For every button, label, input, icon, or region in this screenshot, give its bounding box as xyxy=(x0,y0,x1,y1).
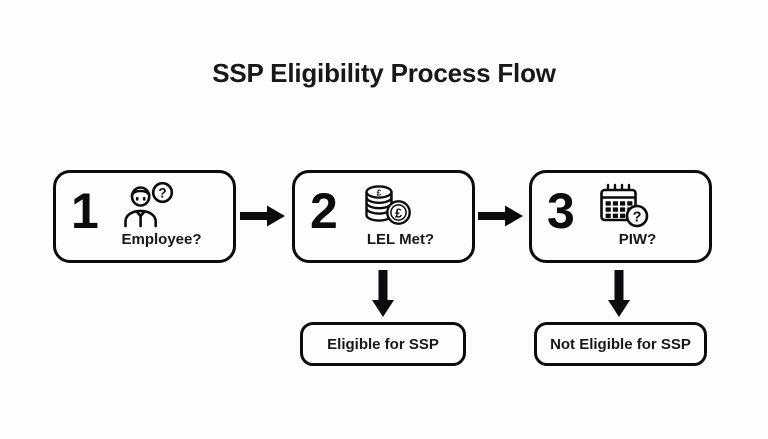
step-box-employee[interactable]: 1 ? xyxy=(53,170,236,263)
step-number: 3 xyxy=(547,186,575,236)
person-question-icon: ? xyxy=(118,181,178,231)
outcome-box-eligible[interactable]: Eligible for SSP xyxy=(300,322,466,366)
step-number: 2 xyxy=(310,186,338,236)
coin-stack-pound-icon: £ £ xyxy=(357,181,417,231)
step-box-lel[interactable]: 2 £ £ LEL Met? xyxy=(292,170,475,263)
arrow-step2-to-step3 xyxy=(478,203,524,229)
step-number: 1 xyxy=(71,186,99,236)
diagram-canvas: SSP Eligibility Process Flow 1 xyxy=(0,0,768,439)
page-title: SSP Eligibility Process Flow xyxy=(0,58,768,89)
step-label: Employee? xyxy=(56,231,233,248)
step-label: PIW? xyxy=(532,231,709,248)
step-label: LEL Met? xyxy=(295,231,472,248)
outcome-box-not-eligible[interactable]: Not Eligible for SSP xyxy=(534,322,707,366)
svg-text:?: ? xyxy=(633,209,642,225)
outcome-label: Eligible for SSP xyxy=(327,336,439,353)
outcome-label: Not Eligible for SSP xyxy=(550,336,691,353)
arrow-step3-to-not-eligible xyxy=(606,270,632,318)
svg-text:£: £ xyxy=(377,187,382,197)
arrow-step2-to-eligible xyxy=(370,270,396,318)
calendar-question-icon: ? xyxy=(594,181,654,231)
step-box-piw[interactable]: 3 xyxy=(529,170,712,263)
svg-text:?: ? xyxy=(158,186,166,201)
arrow-step1-to-step2 xyxy=(240,203,286,229)
svg-text:£: £ xyxy=(395,206,402,220)
